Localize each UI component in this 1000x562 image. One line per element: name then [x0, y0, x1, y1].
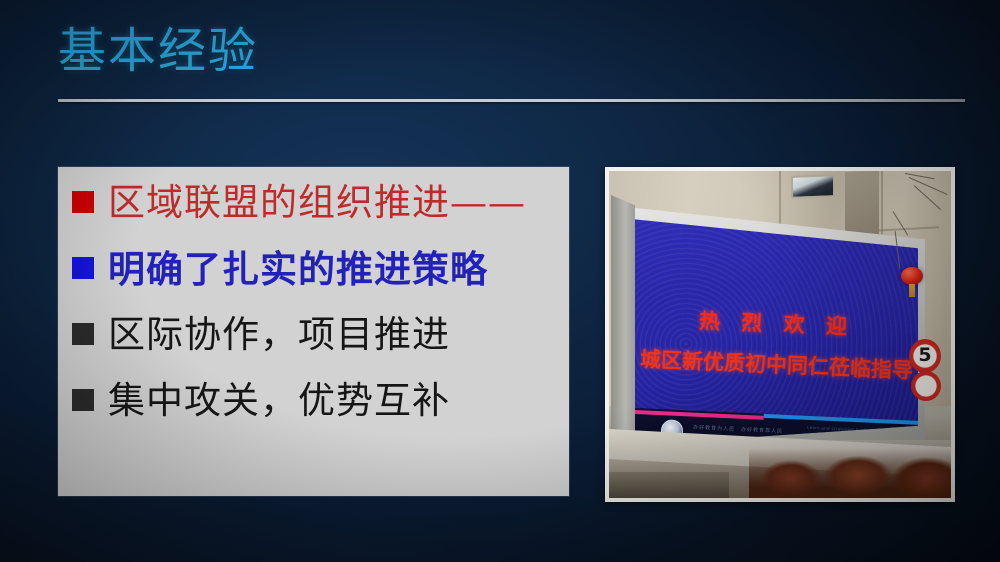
- photo-frame: 热 烈 欢 迎 城区新优质初中同仁莅临指导 办好教育为人民 办好教育靠人民 Le…: [605, 167, 955, 502]
- strip-accent-pink: [635, 410, 764, 420]
- list-item-label: 集中攻关，优势互补: [108, 375, 450, 427]
- list-item-label: 区域联盟的组织推进——: [108, 177, 526, 229]
- speed-limit-sign: 5: [909, 339, 941, 373]
- building-window: [791, 174, 835, 199]
- shrubs-left: [609, 472, 729, 498]
- page-title: 基本经验: [58, 24, 258, 79]
- list-item: 明确了扎实的推进策略: [72, 243, 565, 301]
- strip-slogan-b: 办好教育靠人民: [741, 426, 783, 435]
- billboard-cabinet-side: [611, 195, 635, 451]
- led-welcome-text: 热 烈 欢 迎: [635, 303, 918, 344]
- list-item: 区际协作，项目推进: [72, 309, 565, 367]
- list-item: 集中攻关，优势互补: [72, 375, 565, 433]
- list-item: 区域联盟的组织推进——: [72, 177, 565, 235]
- shrubs: [749, 448, 951, 498]
- speed-limit-value: 5: [909, 344, 941, 366]
- red-lantern-icon: [901, 267, 923, 285]
- strip-accent-blue: [764, 414, 918, 426]
- title-divider: [58, 99, 965, 102]
- black-square-bullet-icon: [72, 323, 94, 345]
- bullet-list: 区域联盟的组织推进—— 明确了扎实的推进策略 区际协作，项目推进 集中攻关，优势…: [72, 177, 565, 441]
- black-square-bullet-icon: [72, 389, 94, 411]
- traffic-sign-secondary: [911, 371, 941, 401]
- presentation-slide: 基本经验 区域联盟的组织推进—— 明确了扎实的推进策略 区际协作，项目推进 集中…: [0, 0, 1000, 562]
- content-panel: 区域联盟的组织推进—— 明确了扎实的推进策略 区际协作，项目推进 集中攻关，优势…: [58, 167, 569, 496]
- list-item-label: 区际协作，项目推进: [108, 309, 450, 361]
- led-billboard-photo: 热 烈 欢 迎 城区新优质初中同仁莅临指导 办好教育为人民 办好教育靠人民 Le…: [609, 171, 951, 498]
- lantern-tassel: [909, 284, 915, 297]
- led-subtitle-text: 城区新优质初中同仁莅临指导: [635, 343, 918, 385]
- red-square-bullet-icon: [72, 191, 94, 213]
- strip-slogan-a: 办好教育为人民: [693, 424, 735, 433]
- blue-square-bullet-icon: [72, 257, 94, 279]
- list-item-label: 明确了扎实的推进策略: [108, 243, 488, 295]
